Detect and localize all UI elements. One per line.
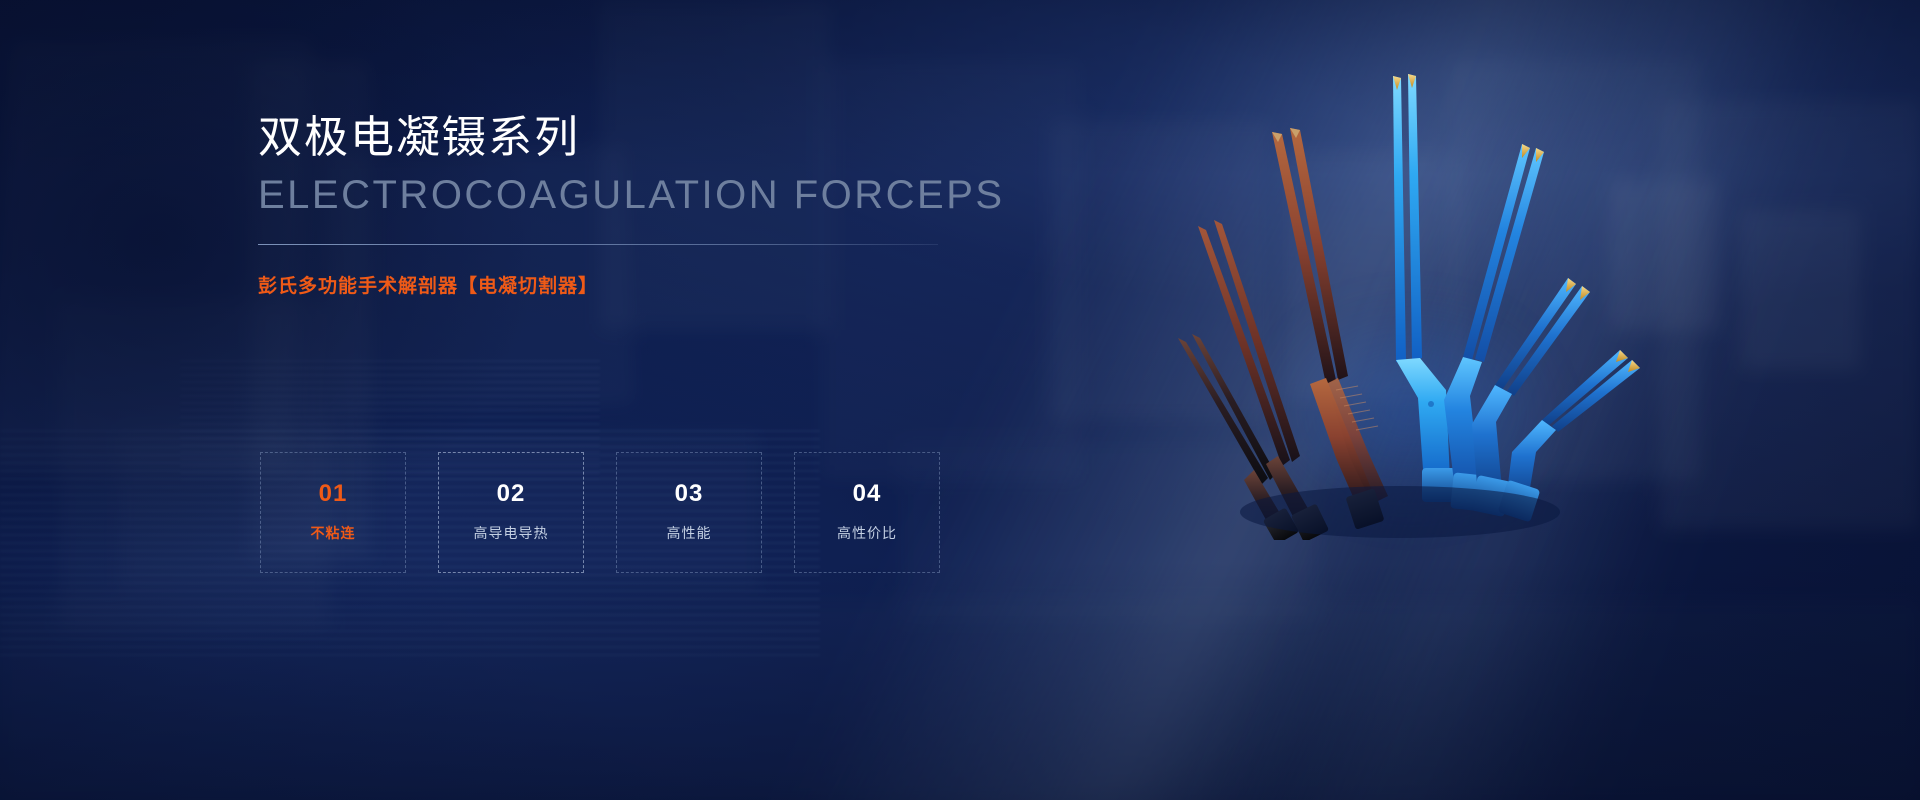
feature-label: 高导电导热: [474, 523, 549, 543]
feature-label: 高性能: [667, 523, 712, 543]
title-divider: [258, 244, 938, 245]
product-banner: 双极电凝镊系列 ELECTROCOAGULATION FORCEPS 彭氏多功能…: [0, 0, 1920, 800]
feature-label: 不粘连: [311, 523, 356, 543]
page-subtitle-en: ELECTROCOAGULATION FORCEPS: [258, 173, 1078, 218]
feature-item-01[interactable]: 01 不粘连: [260, 452, 406, 573]
feature-list: 01 不粘连 02 高导电导热 03 高性能 04 高性价比: [260, 452, 940, 573]
feature-label: 高性价比: [837, 523, 897, 543]
feature-item-02[interactable]: 02 高导电导热: [438, 452, 584, 573]
feature-number: 01: [319, 482, 348, 506]
banner-text-block: 双极电凝镊系列 ELECTROCOAGULATION FORCEPS 彭氏多功能…: [258, 110, 1078, 298]
feature-number: 02: [497, 482, 526, 506]
product-subtitle: 彭氏多功能手术解剖器【电凝切割器】: [258, 271, 1078, 298]
feature-number: 04: [853, 482, 882, 506]
page-title: 双极电凝镊系列: [258, 110, 1078, 165]
feature-number: 03: [675, 482, 704, 506]
feature-item-04[interactable]: 04 高性价比: [794, 452, 940, 573]
forceps-fan-illustration: [1150, 60, 1670, 540]
feature-item-03[interactable]: 03 高性能: [616, 452, 762, 573]
product-image: [1150, 60, 1670, 540]
